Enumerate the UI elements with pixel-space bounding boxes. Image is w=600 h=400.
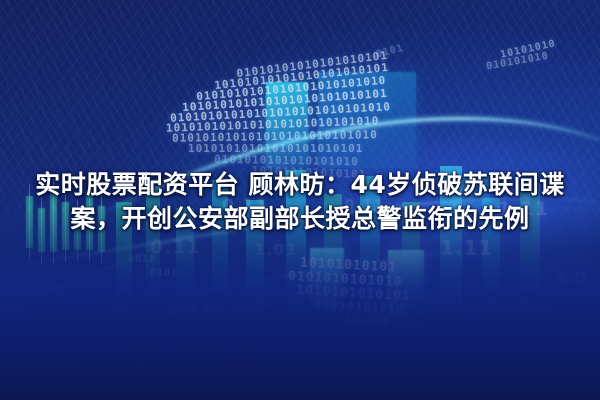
- binary-digit-row: 10101010101: [300, 255, 398, 275]
- numeric-overlay: 1.01: [378, 318, 417, 334]
- glow-block: [388, 250, 424, 312]
- binary-digit-row: 01010101010: [314, 298, 405, 317]
- banner-image: 0101010101010101010110101010101010101010…: [0, 0, 600, 400]
- binary-digit-row: 1010101010101: [296, 283, 411, 304]
- glow-block: [266, 82, 308, 168]
- binary-digit-row: 010101010101010101010101010: [172, 128, 378, 145]
- numeric-overlay: 1.01: [424, 288, 465, 306]
- headline: 实时股票配资平台 顾林昉：44岁侦破苏联间谍 案，开创公安部副部长授总警监衔的先…: [0, 168, 600, 236]
- binary-digit-row: 10101010: [499, 38, 556, 60]
- binary-digit-row: 10101010101010101010101: [188, 142, 363, 155]
- binary-digit-row: 0101010101010: [288, 269, 403, 290]
- binary-digit-row: 1010101010101010101010101010: [166, 114, 380, 134]
- binary-digit-row: 0101: [150, 268, 178, 280]
- binary-digit-row: 10101010101010101010101: [214, 61, 390, 92]
- glow-curve-lower: [0, 246, 600, 330]
- binary-digit-row: 01010101010101010101: [236, 49, 389, 80]
- binary-digit-row: 0101010101010101010101010: [196, 74, 387, 104]
- binary-digit-row: 010101010: [486, 51, 550, 73]
- glow-curve-bottom: [0, 302, 600, 392]
- binary-digit-row: 0101010101010101010: [214, 153, 359, 169]
- numeric-overlay: 0.11: [150, 236, 201, 258]
- glow-block: [310, 248, 344, 306]
- headline-line-1: 实时股票配资平台 顾林昉：44岁侦破苏联间谍: [12, 168, 588, 202]
- binary-digit-row: 101010: [344, 313, 390, 328]
- binary-digit-row: 0101: [375, 43, 405, 60]
- numeric-overlay: 1.0: [556, 268, 587, 287]
- numeric-overlay: 0.11: [166, 300, 214, 321]
- headline-line-2: 案，开创公安部副部长授总警监衔的先例: [12, 202, 588, 236]
- binary-digit-row: 1010: [128, 254, 156, 266]
- binary-digit-row: 101010101010101010101010101: [182, 87, 388, 114]
- numeric-overlay: 1.11: [440, 236, 493, 260]
- binary-digit-row: 01010101010101010101010101010: [170, 100, 391, 125]
- glow-curve-lower-2: [0, 270, 600, 356]
- glow-block: [318, 72, 416, 168]
- numeric-overlay: 1.01: [254, 240, 297, 259]
